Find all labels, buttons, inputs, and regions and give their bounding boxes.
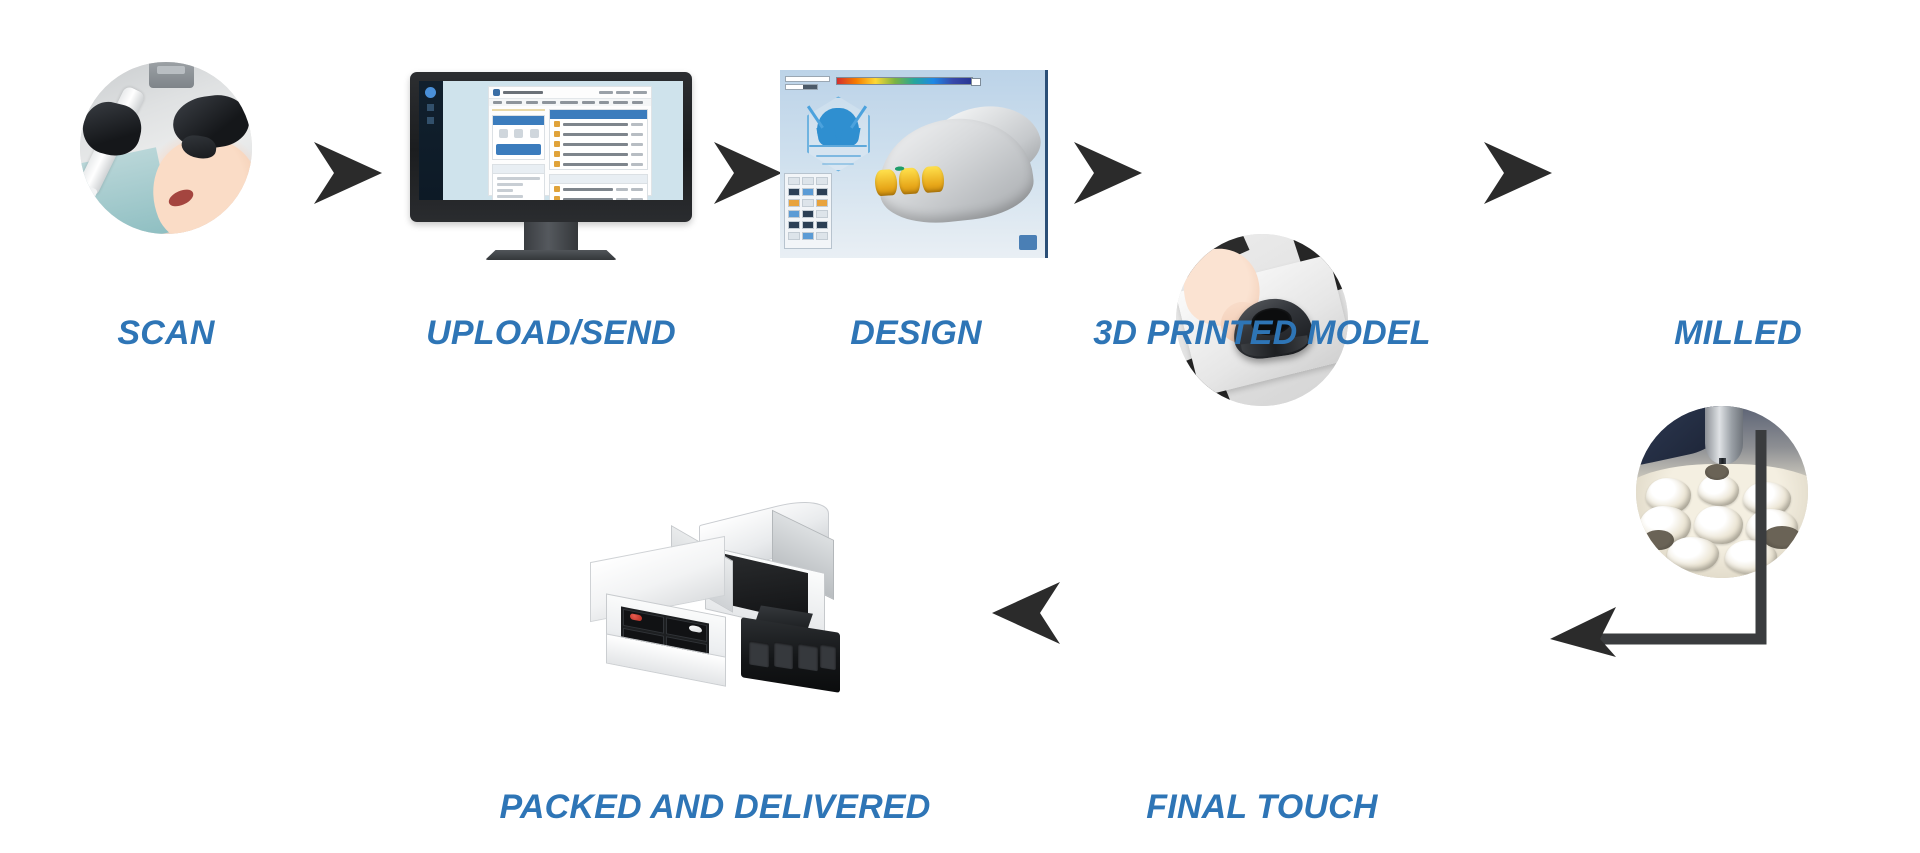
menu-item xyxy=(599,101,609,104)
primary-button xyxy=(496,144,541,155)
menu-item xyxy=(560,101,578,104)
dental-chair-headrest xyxy=(149,62,194,88)
monitor-base xyxy=(485,250,617,260)
step-label-upload: UPLOAD/SEND xyxy=(426,316,676,350)
palette-row xyxy=(788,188,828,196)
packed-item-red xyxy=(631,613,643,621)
menu-item xyxy=(632,101,643,104)
list-item xyxy=(550,119,647,129)
foam-slot xyxy=(749,640,769,667)
foam-slot xyxy=(798,643,818,671)
app-menubar xyxy=(489,99,650,107)
monitor-neck xyxy=(524,222,578,252)
crown xyxy=(898,167,921,195)
logo-wave xyxy=(809,145,867,147)
step-label-final-touch: FINAL TOUCH xyxy=(1146,790,1377,824)
sidebar-avatar-icon xyxy=(425,87,436,98)
crown xyxy=(875,169,898,197)
summary-row xyxy=(497,189,512,192)
quick-action-icons xyxy=(493,125,544,142)
alerts-panel xyxy=(549,109,648,170)
summary-row xyxy=(497,183,522,186)
action-icon xyxy=(530,129,539,138)
sidebar-item-icon xyxy=(427,117,434,124)
arrow-upload-to-design xyxy=(712,140,784,206)
cad-text-field xyxy=(785,84,817,90)
palette-row xyxy=(788,232,828,240)
app-title-placeholder xyxy=(503,91,543,94)
list-item xyxy=(550,159,647,169)
step-media-design xyxy=(780,70,1048,258)
step-media-upload xyxy=(410,72,692,222)
titlebar-link xyxy=(633,91,647,94)
palette-row xyxy=(788,210,828,218)
quick-actions-panel xyxy=(492,115,545,160)
titlebar-link xyxy=(599,91,613,94)
lab-portal-window xyxy=(488,86,651,197)
table-header xyxy=(550,175,647,184)
logo-wave xyxy=(816,155,861,157)
arrow-printed-to-milled xyxy=(1482,140,1554,206)
panel-header xyxy=(493,165,544,174)
palette-row xyxy=(788,199,828,207)
menu-item xyxy=(613,101,628,104)
cad-watermark-logo xyxy=(1019,235,1038,250)
action-icon xyxy=(499,129,508,138)
cad-color-scale-bar xyxy=(836,77,974,85)
foam-slot xyxy=(820,644,836,671)
step-label-milled: MILLED xyxy=(1674,316,1802,350)
menu-item xyxy=(582,101,595,104)
crown xyxy=(922,165,945,193)
list-item xyxy=(550,129,647,139)
foam-insert xyxy=(741,617,840,693)
list-item xyxy=(550,149,647,159)
menu-item xyxy=(542,101,556,104)
action-icon xyxy=(514,129,523,138)
monitor-bezel xyxy=(410,72,692,222)
step-media-scan xyxy=(80,62,252,234)
step-label-printed: 3D PRINTED MODEL xyxy=(1093,316,1431,350)
logo-wave xyxy=(822,163,854,165)
titlebar-link xyxy=(616,91,630,94)
arrow-design-to-printed xyxy=(1072,140,1144,206)
palette-row xyxy=(788,221,828,229)
menu-item xyxy=(506,101,522,104)
dental-cad-screenshot xyxy=(780,70,1048,258)
palette-row xyxy=(788,177,828,185)
monitor-screen xyxy=(419,81,683,200)
step-label-scan: SCAN xyxy=(117,316,214,350)
app-canvas xyxy=(443,81,683,200)
app-left-column xyxy=(492,109,545,192)
app-main-column xyxy=(549,109,648,192)
shipping-boxes-illustration xyxy=(585,505,845,705)
arrow-scan-to-upload xyxy=(312,140,384,206)
panel-header xyxy=(550,110,647,119)
app-sidebar xyxy=(419,81,443,200)
menu-item xyxy=(526,101,538,104)
packed-item-model xyxy=(690,624,703,633)
app-titlebar xyxy=(489,87,650,99)
summary-row xyxy=(497,177,540,180)
sidebar-item-icon xyxy=(427,104,434,111)
cad-tool-palette xyxy=(784,173,832,248)
cad-field-group xyxy=(785,76,830,90)
step-label-packed: PACKED AND DELIVERED xyxy=(500,790,931,824)
table-row xyxy=(550,194,647,200)
arrow-final-touch-to-packed xyxy=(990,580,1062,646)
app-titlebar-actions xyxy=(599,91,647,94)
arrow-milled-to-final-touch xyxy=(1540,425,1790,660)
table-row xyxy=(550,184,647,194)
cases-table-panel xyxy=(549,174,648,200)
foam-slot xyxy=(774,642,794,670)
menu-item xyxy=(493,101,502,104)
summary-panel xyxy=(492,164,545,200)
app-body xyxy=(489,106,650,195)
notice-banner xyxy=(492,109,545,111)
step-media-packed xyxy=(585,505,845,705)
workflow-diagram: SCAN xyxy=(0,0,1920,853)
cad-text-field xyxy=(785,76,830,82)
panel-header xyxy=(493,116,544,125)
step-label-design: DESIGN xyxy=(850,316,982,350)
summary-row xyxy=(497,195,522,198)
app-logo-icon xyxy=(493,89,500,96)
designed-crowns xyxy=(875,165,946,196)
list-item xyxy=(550,139,647,149)
